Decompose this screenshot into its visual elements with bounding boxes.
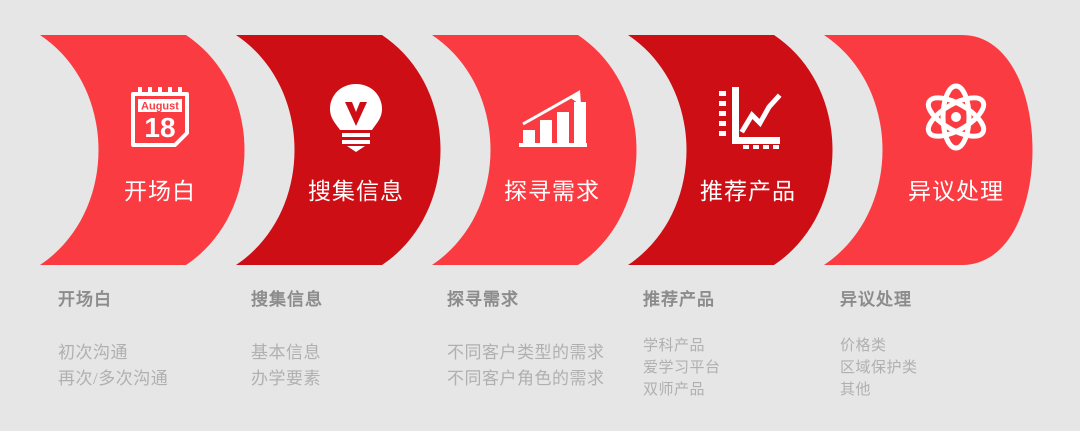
legend-heading-4: 推荐产品 xyxy=(643,285,873,310)
chevron-step-1[interactable] xyxy=(40,35,245,265)
legend-items-4: 学科产品 爱学习平台 双师产品 xyxy=(643,335,873,401)
chevron-step-5[interactable] xyxy=(824,35,1033,265)
chevron-step-2[interactable] xyxy=(236,35,441,265)
process-flow-band: August 18 开场白 搜 xyxy=(0,0,1080,280)
legend-items-5: 价格类 区域保护类 其他 xyxy=(840,335,1070,401)
list-item: 双师产品 xyxy=(643,379,873,401)
list-item: 价格类 xyxy=(840,335,1070,357)
list-item: 爱学习平台 xyxy=(643,357,873,379)
chevron-step-4[interactable] xyxy=(628,35,833,265)
legend-heading-5: 异议处理 xyxy=(840,285,1070,310)
list-item: 其他 xyxy=(840,379,1070,401)
chevron-step-3[interactable] xyxy=(432,35,637,265)
slide-canvas: August 18 开场白 搜 xyxy=(0,0,1080,431)
legend-column-4: 推荐产品 学科产品 爱学习平台 双师产品 xyxy=(643,285,873,401)
legend-area: 开场白 初次沟通 再次/多次沟通 搜集信息 基本信息 办学要素 探寻需求 不同客… xyxy=(0,285,1080,431)
list-item: 区域保护类 xyxy=(840,357,1070,379)
legend-column-5: 异议处理 价格类 区域保护类 其他 xyxy=(840,285,1070,401)
chevron-shapes xyxy=(0,0,1080,280)
list-item: 学科产品 xyxy=(643,335,873,357)
